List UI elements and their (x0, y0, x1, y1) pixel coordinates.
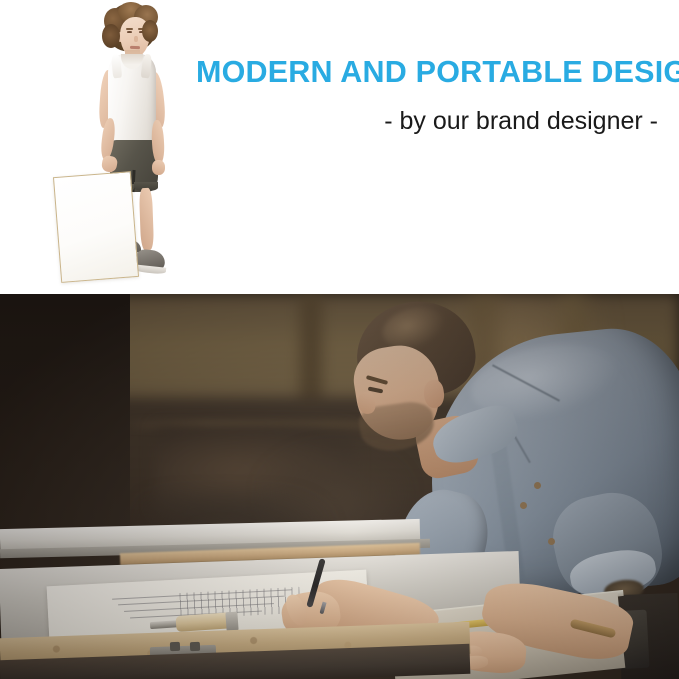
headline-text: MODERN AND PORTABLE DESIGN (196, 55, 660, 89)
blank-white-board (53, 171, 139, 283)
boy-hair-curl (142, 20, 158, 42)
workshop-carpenter-image (0, 294, 679, 679)
chisel-ferrule (225, 612, 238, 632)
boy-hair-curl (102, 24, 120, 48)
miter-knob (190, 642, 200, 651)
boy-nose (134, 36, 138, 42)
boy-mouth (130, 46, 140, 49)
subheadline-text: - by our brand designer - (196, 105, 658, 137)
boy-eyebrow-left (126, 28, 133, 30)
boy-eye-left (127, 31, 132, 33)
miter-knob (170, 642, 180, 651)
boy-leg-right (139, 188, 154, 250)
boy-holding-board-image (22, 0, 202, 294)
denim-button (534, 482, 541, 489)
denim-button (548, 538, 555, 545)
boy-hand-right (152, 160, 165, 175)
product-banner-page: MODERN AND PORTABLE DESIGN - by our bran… (0, 0, 679, 679)
denim-button (520, 502, 527, 509)
top-banner: MODERN AND PORTABLE DESIGN - by our bran… (0, 0, 679, 294)
workshop-post (300, 294, 322, 412)
